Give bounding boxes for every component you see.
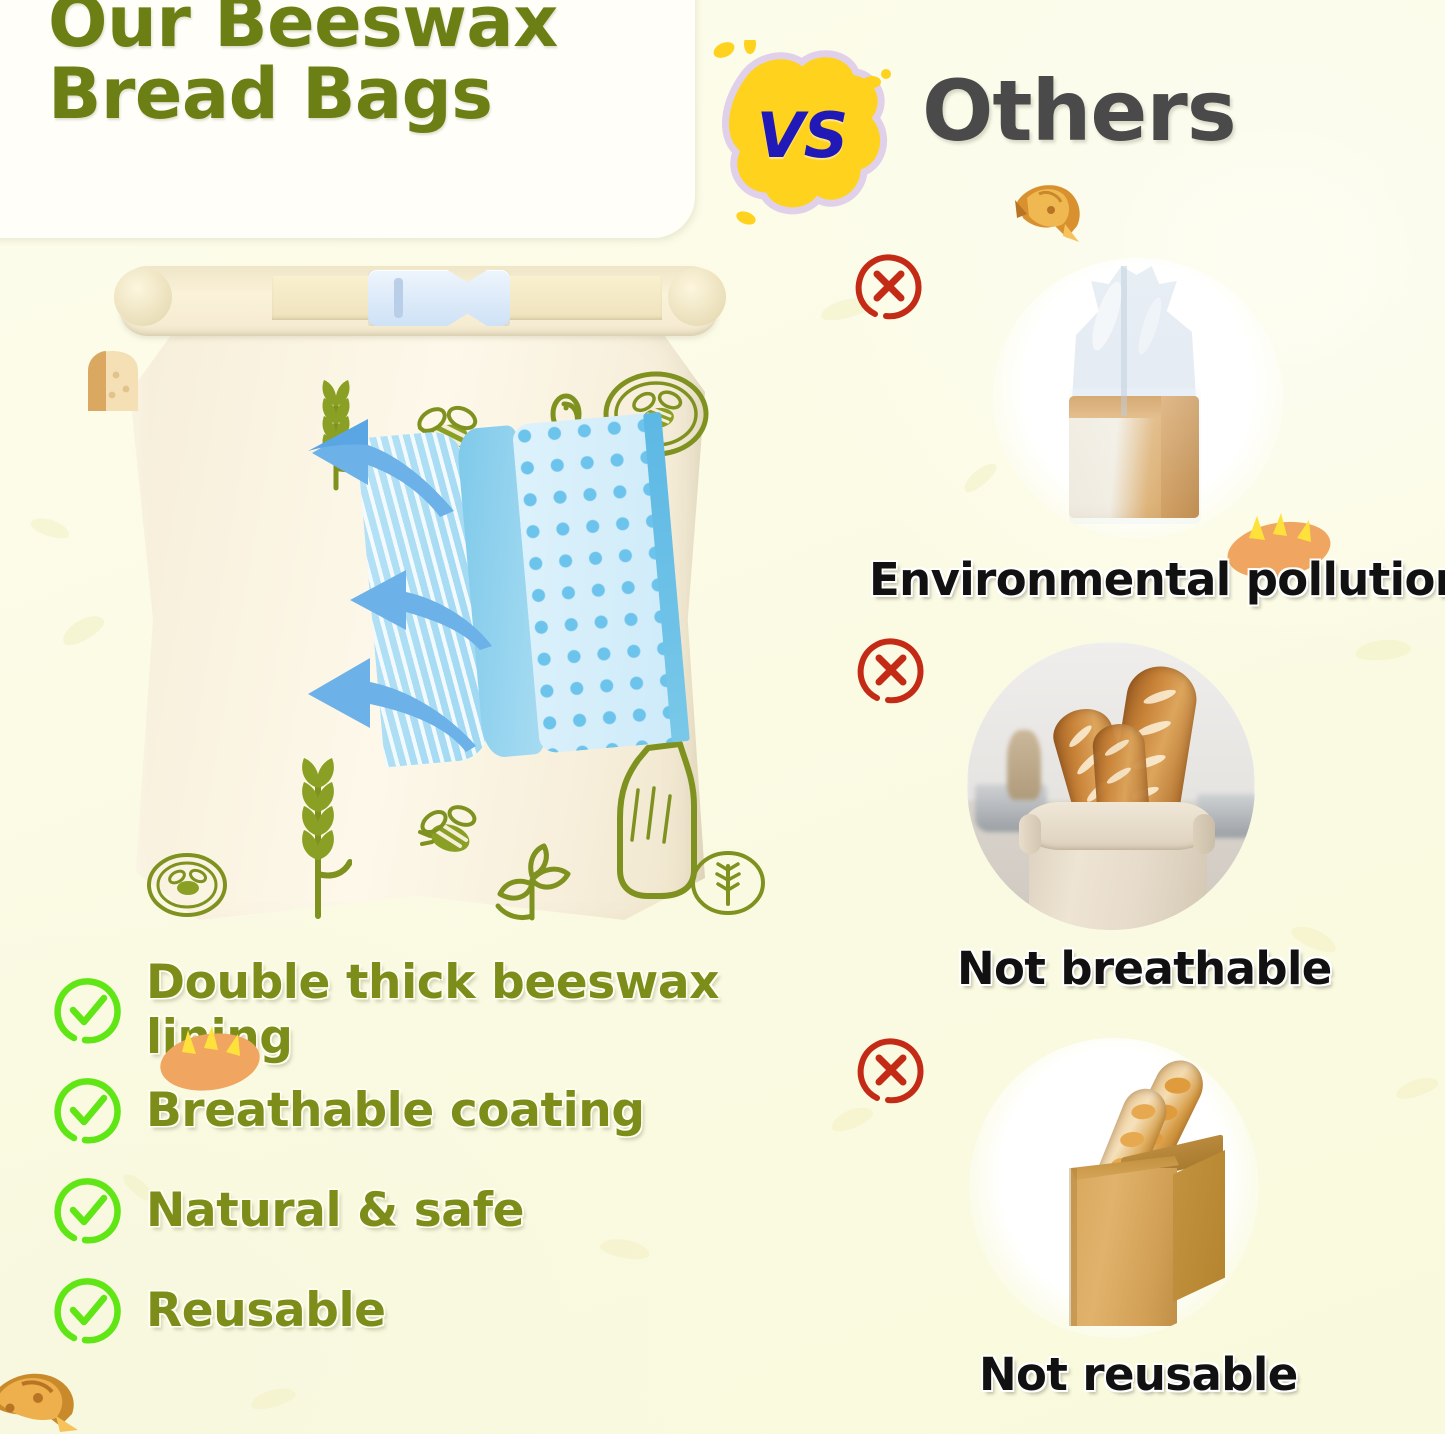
sprout-icon: [480, 840, 582, 926]
con-label: Not reusable: [979, 1348, 1298, 1401]
con-item: Not reusable: [845, 1028, 1425, 1428]
benefit-item: Natural & safe: [52, 1160, 842, 1260]
infographic-canvas: Our Beeswax Bread Bags VS Others: [0, 0, 1445, 1434]
bag-roll-end-left: [114, 268, 172, 326]
photo-paper-bag-with-baguettes: [969, 1038, 1259, 1338]
croissant-icon: [0, 1330, 102, 1434]
con-label: Environmental pollution: [869, 553, 1445, 606]
bee-stamp-icon: [144, 850, 230, 920]
page-title: Our Beeswax Bread Bags: [48, 0, 658, 130]
bag-buckle-slot: [394, 278, 403, 318]
bread-loaf-icon: [156, 1022, 264, 1096]
bg-petal: [29, 514, 72, 542]
check-circle-icon: [52, 974, 124, 1046]
benefit-item: Breathable coating: [52, 1060, 842, 1160]
wheat-stalk-icon: [284, 740, 352, 920]
con-label: Not breathable: [957, 942, 1332, 995]
check-circle-icon: [52, 1074, 124, 1146]
croissant-icon: [1005, 168, 1091, 248]
benefit-item: Reusable: [52, 1260, 842, 1360]
con-item: Environmental pollution: [845, 248, 1425, 618]
airflow-arrow-icon: [274, 650, 484, 760]
con-item: Not breathable: [845, 630, 1425, 1012]
check-circle-icon: [52, 1174, 124, 1246]
wheat-stamp-icon: [688, 846, 768, 920]
bag-roll-end-right: [668, 268, 726, 326]
benefit-label: Reusable: [146, 1283, 386, 1338]
photo-plastic-wrapped-bread: [993, 258, 1283, 538]
airflow-arrow-icon: [272, 415, 462, 525]
cross-circle-icon: [855, 1034, 927, 1106]
vs-badge-label: VS: [706, 40, 896, 225]
bee-icon: [412, 800, 484, 864]
paper-bag-side: [1173, 1150, 1225, 1302]
page-title-line2: Bread Bags: [48, 58, 658, 130]
photo-cloth-sack-with-baguettes: [967, 642, 1255, 930]
cloth-sack-cuff: [1023, 802, 1213, 850]
benefit-label: Natural & safe: [146, 1183, 524, 1238]
bg-petal: [249, 1384, 298, 1413]
paper-bag-front: [1071, 1168, 1177, 1326]
jar-blur: [1007, 730, 1041, 800]
cross-circle-icon: [855, 634, 927, 706]
toast-slice-icon: [76, 345, 148, 419]
cross-circle-icon: [853, 250, 925, 322]
airflow-arrow-icon: [320, 560, 500, 656]
benefits-list: Double thick beeswax lining Breathable c…: [52, 960, 842, 1360]
vs-badge: VS: [706, 40, 896, 225]
others-title: Others: [922, 62, 1236, 160]
bag-strap-right: [492, 276, 662, 320]
product-image-beeswax-bread-bag: [92, 250, 742, 940]
title-panel: Our Beeswax Bread Bags: [0, 0, 695, 238]
bag-buckle-closure: [368, 270, 510, 326]
